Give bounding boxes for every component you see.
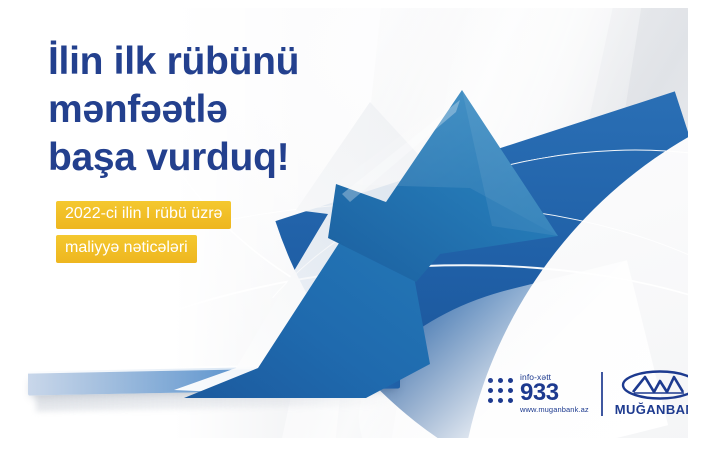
dot-grid-icon [488, 378, 514, 404]
promo-banner: İlin ilk rübünü mənfəətlə başa vurduq! 2… [0, 8, 688, 438]
vertical-divider [601, 372, 603, 416]
dot [508, 388, 513, 393]
info-text-group: info-xətt 933 www.muganbank.az [520, 373, 589, 414]
info-line-block: info-xətt 933 www.muganbank.az [488, 373, 589, 414]
dot [488, 378, 493, 383]
dot [488, 398, 493, 403]
website-url: www.muganbank.az [520, 406, 589, 414]
subtitle-block: 2022-ci ilin I rübü üzrə maliyyə nəticəl… [56, 201, 231, 269]
brand-name: MUĞANBANK [615, 402, 688, 417]
subtitle-line-2: maliyyə nəticələri [56, 235, 197, 263]
subtitle-line-1: 2022-ci ilin I rübü üzrə [56, 201, 231, 229]
subtitle-row: maliyyə nəticələri [56, 235, 231, 269]
subtitle-row: 2022-ci ilin I rübü üzrə [56, 201, 231, 235]
brand-logo: MUĞANBANK [615, 370, 688, 417]
muganbank-logo-mark [621, 370, 688, 400]
dot [498, 378, 503, 383]
footer-logo-block: info-xətt 933 www.muganbank.az MUĞANBANK [488, 370, 688, 417]
dot [498, 388, 503, 393]
dot [508, 398, 513, 403]
dot [508, 378, 513, 383]
dot [488, 388, 493, 393]
dot [498, 398, 503, 403]
page-title: İlin ilk rübünü mənfəətlə başa vurduq! [48, 38, 299, 182]
info-line-number: 933 [520, 382, 589, 405]
